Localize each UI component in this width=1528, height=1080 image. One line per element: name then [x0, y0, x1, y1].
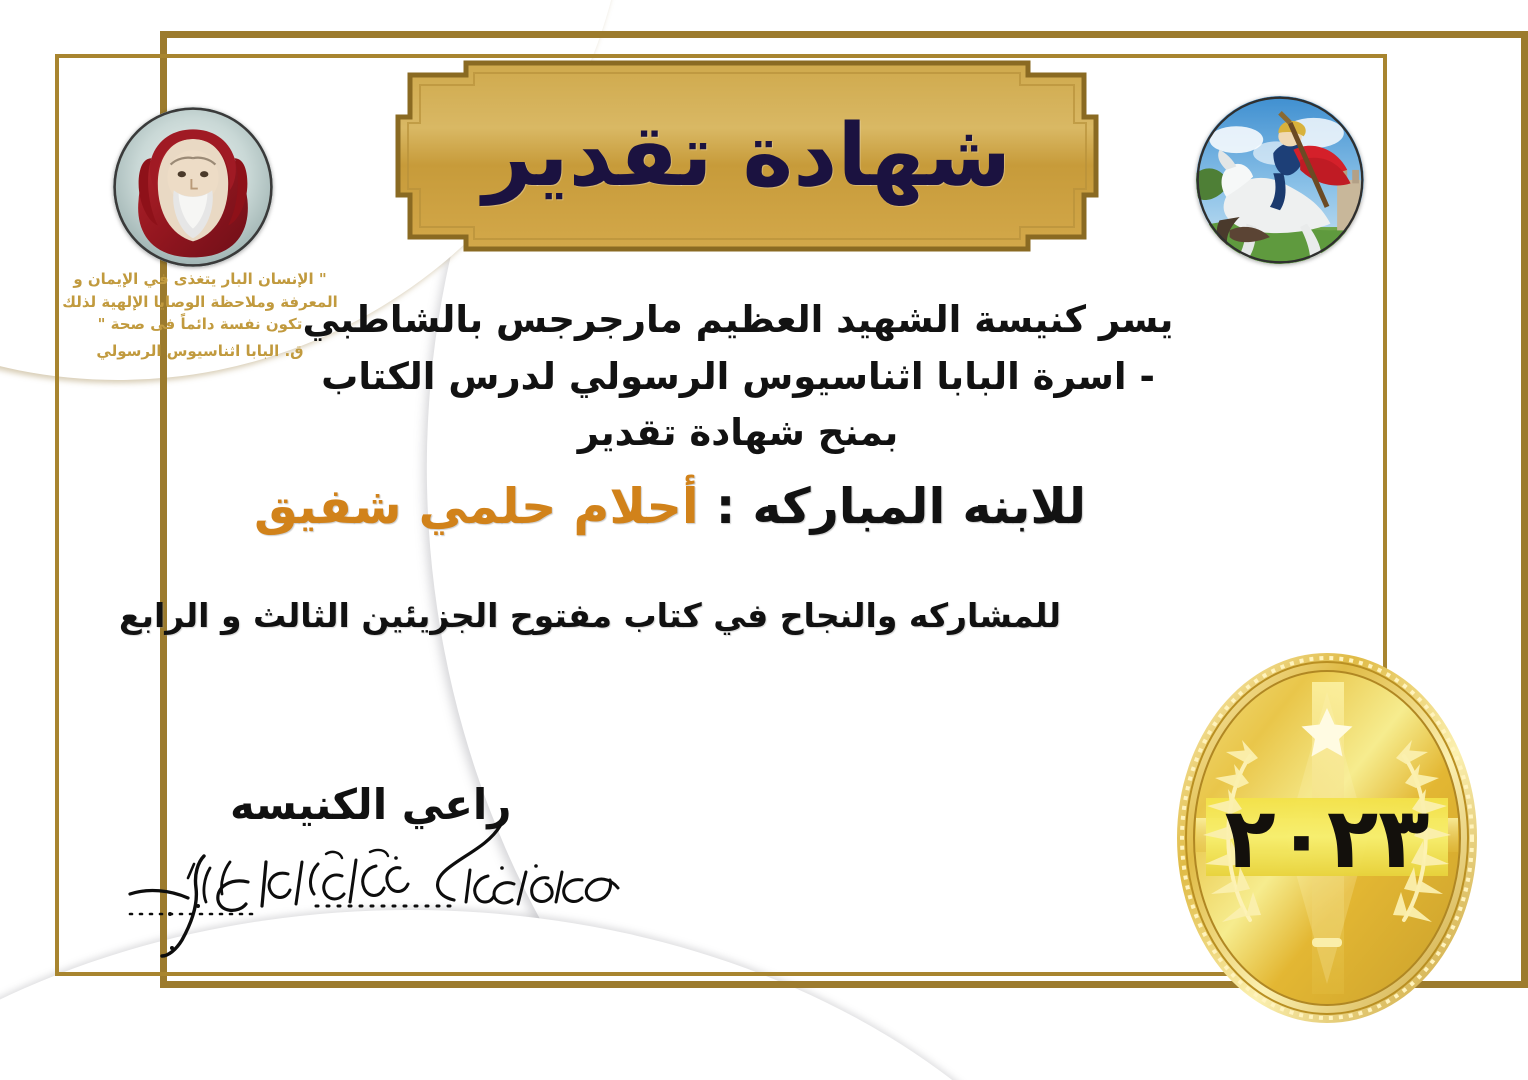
saint-george-icon — [1196, 96, 1364, 264]
medal-year-text: ٢٠٢٣ — [1176, 652, 1478, 1024]
recipient-name: أحلام حلمي شفيق — [254, 478, 699, 535]
certificate-canvas: شهادة تقدير — [0, 0, 1528, 1080]
banner-title-text: شهادة تقدير — [374, 57, 1120, 255]
body-line-1: يسر كنيسة الشهيد العظيم مارجرجس بالشاطبي — [120, 292, 1356, 349]
recipient-line: للابنه المباركه : أحلام حلمي شفيق — [120, 478, 1220, 535]
year-medal: ٢٠٢٣ — [1176, 652, 1478, 1024]
handwritten-signature — [70, 822, 630, 962]
award-reason: للمشاركه والنجاح في كتاب مفتوح الجزيئين … — [60, 596, 1120, 635]
title-banner: شهادة تقدير — [374, 57, 1120, 255]
recipient-prefix: للابنه المباركه : — [716, 478, 1086, 535]
pope-athanasius-icon — [113, 107, 273, 267]
certificate-body: يسر كنيسة الشهيد العظيم مارجرجس بالشاطبي… — [120, 292, 1356, 462]
body-line-2: - اسرة البابا اثناسيوس الرسولي لدرس الكت… — [120, 349, 1356, 406]
body-line-3: بمنح شهادة تقدير — [120, 405, 1356, 462]
